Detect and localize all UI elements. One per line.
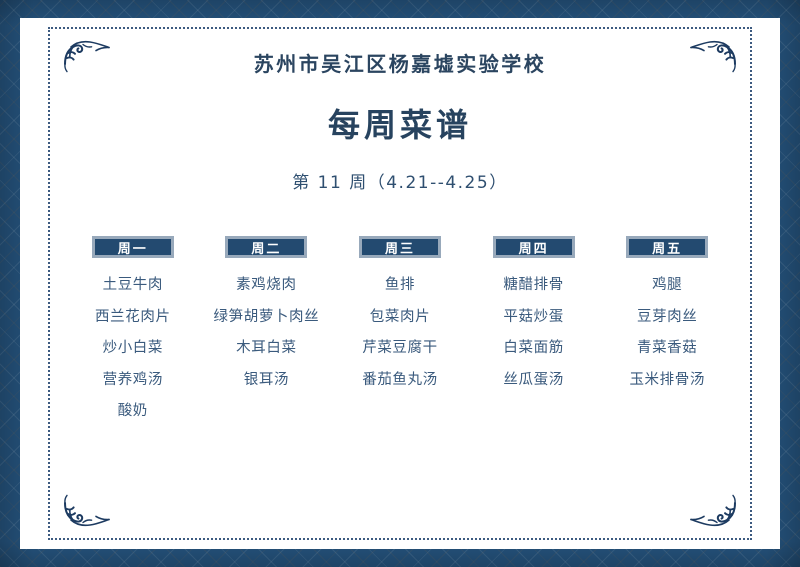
dish-item: 木耳白菜 (214, 341, 320, 356)
dish-item: 酸奶 (95, 404, 171, 419)
day-badge-monday: 周一 (92, 236, 174, 258)
dish-item: 丝瓜蛋汤 (503, 373, 563, 388)
corner-flourish-icon-bottom-left (56, 493, 114, 533)
dish-list-wednesday: 鱼排 包菜肉片 芹菜豆腐干 番茄鱼丸汤 (362, 278, 438, 404)
dish-item: 白菜面筋 (503, 341, 563, 356)
dish-list-thursday: 糖醋排骨 平菇炒蛋 白菜面筋 丝瓜蛋汤 (503, 278, 563, 404)
dish-item: 土豆牛肉 (95, 278, 171, 293)
dish-item: 素鸡烧肉 (214, 278, 320, 293)
dish-item: 青菜香菇 (629, 341, 705, 356)
dish-item: 鸡腿 (629, 278, 705, 293)
dish-list-monday: 土豆牛肉 西兰花肉片 炒小白菜 营养鸡汤 酸奶 (95, 278, 171, 436)
dish-item: 芹菜豆腐干 (362, 341, 438, 356)
dish-item: 炒小白菜 (95, 341, 171, 356)
dish-item: 玉米排骨汤 (629, 373, 705, 388)
dish-item: 鱼排 (362, 278, 438, 293)
dish-item: 豆芽肉丝 (629, 310, 705, 325)
dish-list-tuesday: 素鸡烧肉 绿笋胡萝卜肉丝 木耳白菜 银耳汤 (214, 278, 320, 404)
school-name: 苏州市吴江区杨嘉墟实验学校 (20, 52, 780, 76)
day-badge-tuesday: 周二 (225, 236, 307, 258)
dish-item: 营养鸡汤 (95, 373, 171, 388)
dish-list-friday: 鸡腿 豆芽肉丝 青菜香菇 玉米排骨汤 (629, 278, 705, 404)
poster-header: 苏州市吴江区杨嘉墟实验学校 每周菜谱 第 11 周（4.21--4.25） (20, 52, 780, 193)
corner-flourish-icon-bottom-right (686, 493, 744, 533)
weekly-menu-grid: 周一 土豆牛肉 西兰花肉片 炒小白菜 营养鸡汤 酸奶 周二 素鸡烧肉 绿笋胡萝卜… (66, 236, 734, 436)
day-column-thursday: 周四 糖醋排骨 平菇炒蛋 白菜面筋 丝瓜蛋汤 (467, 236, 601, 436)
dish-item: 糖醋排骨 (503, 278, 563, 293)
dish-item: 平菇炒蛋 (503, 310, 563, 325)
day-column-tuesday: 周二 素鸡烧肉 绿笋胡萝卜肉丝 木耳白菜 银耳汤 (200, 236, 334, 436)
dish-item: 绿笋胡萝卜肉丝 (214, 310, 320, 325)
day-badge-thursday: 周四 (493, 236, 575, 258)
week-range-subtitle: 第 11 周（4.21--4.25） (20, 168, 780, 193)
dish-item: 番茄鱼丸汤 (362, 373, 438, 388)
day-column-monday: 周一 土豆牛肉 西兰花肉片 炒小白菜 营养鸡汤 酸奶 (66, 236, 200, 436)
dish-item: 银耳汤 (214, 373, 320, 388)
dish-item: 包菜肉片 (362, 310, 438, 325)
day-column-friday: 周五 鸡腿 豆芽肉丝 青菜香菇 玉米排骨汤 (600, 236, 734, 436)
poster-sheet: 苏州市吴江区杨嘉墟实验学校 每周菜谱 第 11 周（4.21--4.25） 周一… (20, 18, 780, 549)
weekly-menu-poster: 苏州市吴江区杨嘉墟实验学校 每周菜谱 第 11 周（4.21--4.25） 周一… (0, 0, 800, 567)
day-column-wednesday: 周三 鱼排 包菜肉片 芹菜豆腐干 番茄鱼丸汤 (333, 236, 467, 436)
page-title: 每周菜谱 (20, 106, 780, 144)
dish-item: 西兰花肉片 (95, 310, 171, 325)
day-badge-wednesday: 周三 (359, 236, 441, 258)
day-badge-friday: 周五 (626, 236, 708, 258)
